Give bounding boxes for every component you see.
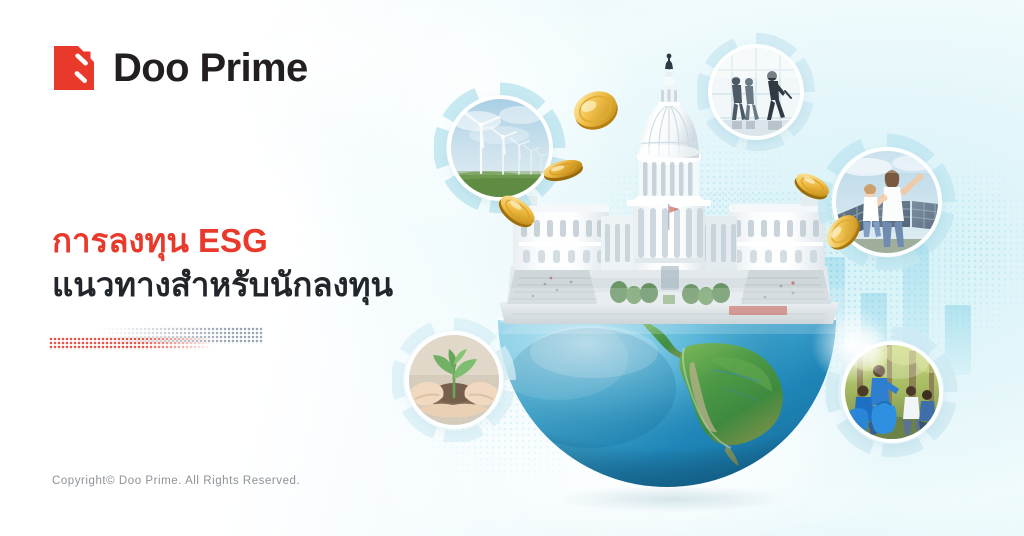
medallion-seedling[interactable] xyxy=(392,318,516,442)
wind-turbine-farm-photo xyxy=(451,99,549,197)
medallion-volunteers[interactable] xyxy=(826,326,958,458)
copyright-text: Copyright© Doo Prime. All Rights Reserve… xyxy=(52,475,300,487)
hands-holding-seedling-photo xyxy=(409,335,499,425)
headline-line-2: แนวทางสำหรับนักลงทุน xyxy=(52,263,482,307)
gold-coin-icon xyxy=(820,210,866,259)
office-people-walking-photo xyxy=(712,48,800,136)
gold-coin-icon xyxy=(570,88,622,139)
medallion-workplace[interactable] xyxy=(697,33,815,151)
halftone-divider xyxy=(49,325,264,353)
esg-promo-banner: Doo Prime การลงทุน ESG แนวทางสำหรับนักลง… xyxy=(0,0,1024,536)
earth-hemisphere-graphic xyxy=(498,318,836,498)
brand-logo[interactable]: Doo Prime xyxy=(54,44,308,92)
gold-coin-icon xyxy=(540,152,586,193)
headline-line-1: การลงทุน ESG xyxy=(52,219,482,263)
volunteers-forest-cleanup-photo xyxy=(845,345,939,439)
gold-coin-icon xyxy=(493,190,541,237)
doo-prime-mark-icon xyxy=(54,44,100,92)
headline-block: การลงทุน ESG แนวทางสำหรับนักลงทุน xyxy=(52,219,482,306)
halftone-divider-red xyxy=(49,337,212,350)
gold-coin-icon xyxy=(790,168,834,209)
brand-name: Doo Prime xyxy=(113,48,308,88)
